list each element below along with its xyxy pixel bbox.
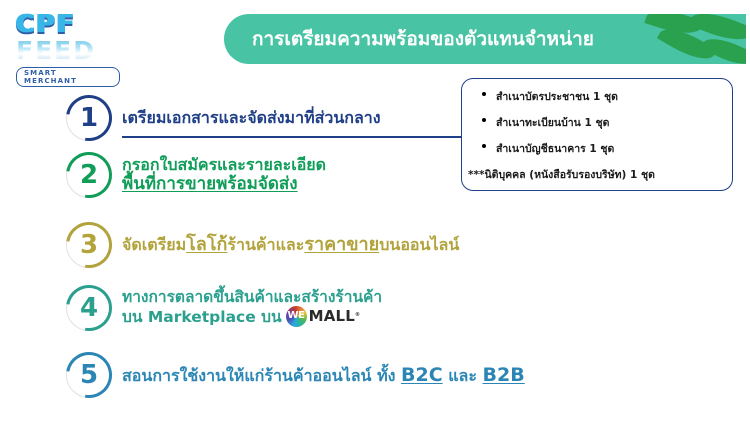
step-item-2: 2 กรอกใบสมัครและรายละเอียด พื้นที่การขาย…: [66, 152, 326, 198]
wemall-we-label: WE: [287, 311, 304, 321]
logo-text-feed: FEED: [16, 38, 120, 63]
header-banner: การเตรียมความพร้อมของตัวแทนจำหน่าย: [224, 14, 746, 64]
step-segment-emphasis-b2c: B2C: [401, 364, 443, 386]
step-segment-emphasis-price: ราคาขาย: [304, 234, 379, 255]
wemall-logo: WEMALL®: [286, 306, 360, 327]
step-text-5: สอนการใช้งานให้แก่ร้านค้าออนไลน์ ทั้ง B2…: [122, 364, 525, 386]
list-item-label: สำเนาบัตรประชาชน 1 ชุด: [496, 91, 618, 103]
step-segment: สอนการใช้งานให้แก่ร้านค้าออนไลน์ ทั้ง: [122, 366, 401, 385]
logo-badge-smart-merchant: SMART MERCHANT: [16, 67, 120, 87]
list-item: สำเนาทะเบียนบ้าน 1 ชุด: [482, 114, 732, 131]
step-text-4: ทางการตลาดขึ้นสินค้าและสร้างร้านค้า บน M…: [122, 288, 382, 327]
documents-list: สำเนาบัตรประชาชน 1 ชุด สำเนาทะเบียนบ้าน …: [462, 79, 732, 183]
list-item-label: สำเนาบัญชีธนาคาร 1 ชุด: [496, 143, 614, 155]
list-item-label: สำเนาทะเบียนบ้าน 1 ชุด: [496, 117, 609, 129]
step-number-ring-2: 2: [66, 152, 112, 198]
step-number-label: 5: [66, 352, 112, 398]
step-text-3: จัดเตรียมโลโก้ร้านค้าและราคาขายบนออนไลน์: [122, 234, 459, 255]
bullet-icon: [482, 118, 486, 122]
connector-line-horizontal: [122, 136, 471, 138]
step-segment: และ: [443, 366, 483, 385]
step-line-marketplace: บน Marketplace บนWEMALL®: [122, 307, 382, 328]
step-number-ring-5: 5: [66, 352, 112, 398]
step-item-1: 1 เตรียมเอกสารและจัดส่งมาที่ส่วนกลาง: [66, 95, 381, 141]
bullet-icon: [482, 144, 486, 148]
step-number-ring-1: 1: [66, 95, 112, 141]
documents-note: ***นิติบุคคล (หนังสือรับรองบริษัท) 1 ชุด: [468, 166, 732, 183]
slide-canvas: CPF FEED SMART MERCHANT การเตรียมความพร้…: [0, 0, 750, 422]
logo-text-cpf: CPF: [16, 12, 120, 37]
step-number-ring-4: 4: [66, 285, 112, 331]
step-segment: บนออนไลน์: [379, 235, 459, 254]
step-text-1: เตรียมเอกสารและจัดส่งมาที่ส่วนกลาง: [122, 109, 381, 128]
step-item-3: 3 จัดเตรียมโลโก้ร้านค้าและราคาขายบนออนไล…: [66, 222, 459, 268]
wemall-mall-label: MALL: [309, 309, 355, 324]
step-line: ทางการตลาดขึ้นสินค้าและสร้างร้านค้า: [122, 288, 382, 306]
bullet-icon: [482, 92, 486, 96]
step-item-4: 4 ทางการตลาดขึ้นสินค้าและสร้างร้านค้า บน…: [66, 285, 382, 331]
step-segment: จัดเตรียม: [122, 235, 186, 254]
wemall-circle-icon: WE: [286, 306, 307, 327]
step-number-ring-3: 3: [66, 222, 112, 268]
step-segment-emphasis-b2b: B2B: [483, 364, 525, 386]
step-number-label: 3: [66, 222, 112, 268]
step-segment: บน Marketplace บน: [122, 308, 282, 326]
step-number-label: 1: [66, 95, 112, 141]
step-line: เตรียมเอกสารและจัดส่งมาที่ส่วนกลาง: [122, 109, 381, 128]
cpf-feed-logo: CPF FEED SMART MERCHANT: [16, 12, 120, 74]
page-title: การเตรียมความพร้อมของตัวแทนจำหน่าย: [252, 24, 594, 54]
step-item-5: 5 สอนการใช้งานให้แก่ร้านค้าออนไลน์ ทั้ง …: [66, 352, 525, 398]
step-line: กรอกใบสมัครและรายละเอียด: [122, 156, 326, 175]
step-number-label: 4: [66, 285, 112, 331]
step-number-label: 2: [66, 152, 112, 198]
list-item: สำเนาบัตรประชาชน 1 ชุด: [482, 88, 732, 105]
step-line-underlined: พื้นที่การขายพร้อมจัดส่ง: [122, 174, 326, 194]
documents-info-box: สำเนาบัตรประชาชน 1 ชุด สำเนาทะเบียนบ้าน …: [461, 78, 733, 191]
step-text-2: กรอกใบสมัครและรายละเอียด พื้นที่การขายพร…: [122, 156, 326, 195]
wemall-trademark: ®: [355, 313, 360, 319]
list-item: สำเนาบัญชีธนาคาร 1 ชุด: [482, 140, 732, 157]
step-segment: ร้านค้าและ: [227, 235, 304, 254]
step-segment-emphasis-logo: โลโก้: [186, 234, 227, 255]
